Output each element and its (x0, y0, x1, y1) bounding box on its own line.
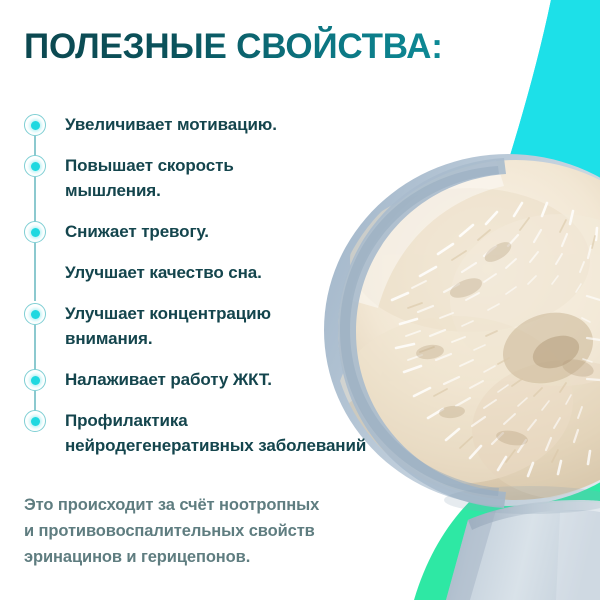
timeline-connector (34, 244, 35, 301)
list-item-label: Повышает скорость мышления. (65, 153, 424, 203)
list-item: Улучшает концентрацию внимания. (24, 301, 424, 351)
list-item-label: Налаживает работу ЖКТ. (65, 367, 424, 392)
page-title: ПОЛЕЗНЫЕ СВОЙСТВА: (24, 26, 443, 68)
bullet-dot-icon (24, 221, 46, 243)
bullet-dot-icon (24, 114, 46, 136)
list-item: Налаживает работу ЖКТ. (24, 367, 424, 392)
list-item: Снижает тревогу. (24, 219, 424, 244)
list-item-label: Улучшает концентрацию внимания. (65, 301, 424, 351)
cyan-band-shape (503, 0, 600, 186)
poster-canvas: ПОЛЕЗНЫЕ СВОЙСТВА: Увеличивает мотивацию… (0, 0, 600, 600)
list-item-label: Увеличивает мотивацию. (65, 112, 424, 137)
list-item: Повышает скорость мышления. (24, 153, 424, 203)
list-item: Увеличивает мотивацию. (24, 112, 424, 137)
footer-note: Это происходит за счёт ноотропных и прот… (24, 492, 424, 570)
list-item-label: Профилактика нейродегенеративных заболев… (65, 408, 424, 458)
bullet-dot-icon (24, 155, 46, 177)
bullet-dot-icon (24, 369, 46, 391)
list-item-label: Снижает тревогу. (65, 219, 424, 244)
list-item: Профилактика нейродегенеративных заболев… (24, 408, 424, 458)
pedestal (446, 500, 600, 600)
list-item-label: Улучшает качество сна. (65, 260, 424, 285)
bullet-dot-icon (24, 410, 46, 432)
benefits-list: Увеличивает мотивацию. Повышает скорость… (24, 112, 424, 458)
bullet-dot-icon (24, 303, 46, 325)
green-wedge-shape (414, 446, 600, 600)
list-item: Улучшает качество сна. (24, 260, 424, 285)
cyan-band-shape-fill (503, 0, 600, 186)
